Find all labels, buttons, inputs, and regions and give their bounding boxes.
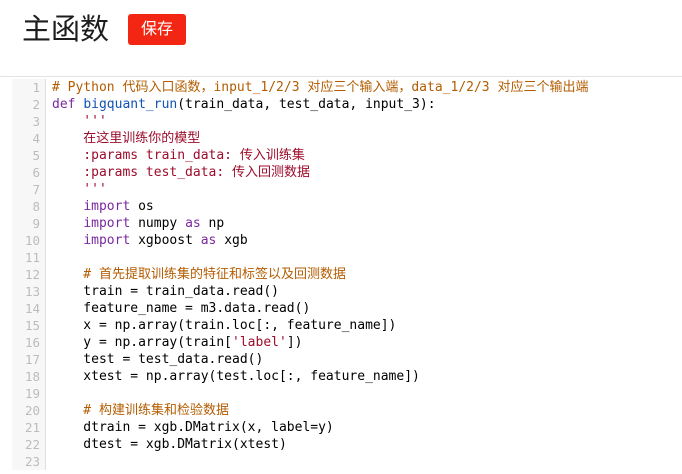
code-editor-body: 1# Python 代码入口函数，input_1/2/3 对应三个输入端，dat… bbox=[0, 77, 682, 470]
code-token-kw: import bbox=[83, 199, 130, 214]
line-number: 9 bbox=[12, 215, 46, 232]
code-token-doc: :params test_data: 传入回测数据 bbox=[52, 165, 310, 180]
line-number: 8 bbox=[12, 198, 46, 215]
code-line: 21 dtrain = xgb.DMatrix(x, label=y) bbox=[12, 419, 682, 436]
header-title-group: 主函数 保存 bbox=[22, 12, 186, 46]
line-number: 17 bbox=[12, 351, 46, 368]
code-line: 18 xtest = np.array(test.loc[:, feature_… bbox=[12, 368, 682, 385]
code-token-str: 'label' bbox=[232, 335, 287, 350]
code-token-plain: y = np.array(train[ bbox=[52, 335, 232, 350]
line-number: 13 bbox=[12, 283, 46, 300]
code-line-text[interactable]: y = np.array(train['label']) bbox=[46, 334, 682, 351]
code-line: 12 # 首先提取训练集的特征和标签以及回测数据 bbox=[12, 266, 682, 283]
code-token-kw: import bbox=[83, 233, 130, 248]
line-number: 1 bbox=[12, 79, 46, 96]
code-line-text[interactable] bbox=[46, 385, 682, 402]
code-line: 17 test = test_data.read() bbox=[12, 351, 682, 368]
code-line-text[interactable]: ''' bbox=[46, 181, 682, 198]
code-token-plain: xgboost bbox=[130, 233, 200, 248]
code-line-text[interactable] bbox=[46, 453, 682, 470]
code-line-text[interactable]: # 首先提取训练集的特征和标签以及回测数据 bbox=[46, 266, 682, 283]
code-line-text[interactable]: # Python 代码入口函数，input_1/2/3 对应三个输入端，data… bbox=[46, 79, 682, 96]
code-line-text[interactable]: import os bbox=[46, 198, 682, 215]
code-token-plain: os bbox=[130, 199, 153, 214]
code-line-text[interactable]: feature_name = m3.data.read() bbox=[46, 300, 682, 317]
code-line-text[interactable]: def bigquant_run(train_data, test_data, … bbox=[46, 96, 682, 113]
line-number: 11 bbox=[12, 249, 46, 266]
code-token-doc: :params train_data: 传入训练集 bbox=[52, 148, 305, 163]
code-line: 5 :params train_data: 传入训练集 bbox=[12, 147, 682, 164]
code-token-plain bbox=[52, 216, 83, 231]
line-number: 12 bbox=[12, 266, 46, 283]
code-token-plain: test = test_data.read() bbox=[52, 352, 263, 367]
code-line: 20 # 构建训练集和检验数据 bbox=[12, 402, 682, 419]
code-token-plain: xtest = np.array(test.loc[:, feature_nam… bbox=[52, 369, 420, 384]
code-line: 7 ''' bbox=[12, 181, 682, 198]
code-line: 4 在这里训练你的模型 bbox=[12, 130, 682, 147]
code-line: 6 :params test_data: 传入回测数据 bbox=[12, 164, 682, 181]
code-token-plain: dtrain = xgb.DMatrix(x, label=y) bbox=[52, 420, 334, 435]
code-line-text[interactable]: ''' bbox=[46, 113, 682, 130]
code-token-plain: dtest = xgb.DMatrix(xtest) bbox=[52, 437, 287, 452]
line-number: 15 bbox=[12, 317, 46, 334]
line-number: 14 bbox=[12, 300, 46, 317]
code-token-doc: ''' bbox=[52, 182, 107, 197]
line-number: 3 bbox=[12, 113, 46, 130]
code-line-text[interactable]: train = train_data.read() bbox=[46, 283, 682, 300]
code-line-text[interactable]: import numpy as np bbox=[46, 215, 682, 232]
code-line: 11 bbox=[12, 249, 682, 266]
code-line: 10 import xgboost as xgb bbox=[12, 232, 682, 249]
code-line-text[interactable]: dtrain = xgb.DMatrix(x, label=y) bbox=[46, 419, 682, 436]
code-token-plain: x = np.array(train.loc[:, feature_name]) bbox=[52, 318, 396, 333]
code-token-cmt: # Python 代码入口函数，input_1/2/3 对应三个输入端，data… bbox=[52, 80, 588, 95]
line-number: 7 bbox=[12, 181, 46, 198]
line-number: 10 bbox=[12, 232, 46, 249]
code-line: 2def bigquant_run(train_data, test_data,… bbox=[12, 96, 682, 113]
line-number: 22 bbox=[12, 436, 46, 453]
code-line-text[interactable]: # 构建训练集和检验数据 bbox=[46, 402, 682, 419]
code-token-kw: def bbox=[52, 97, 83, 112]
code-token-plain: ]) bbox=[287, 335, 303, 350]
code-line: 3 ''' bbox=[12, 113, 682, 130]
line-number: 2 bbox=[12, 96, 46, 113]
code-token-kw: as bbox=[201, 233, 217, 248]
code-line-text[interactable]: :params train_data: 传入训练集 bbox=[46, 147, 682, 164]
code-token-cmt: # 构建训练集和检验数据 bbox=[52, 403, 229, 418]
code-line-text[interactable]: test = test_data.read() bbox=[46, 351, 682, 368]
code-line-text[interactable]: 在这里训练你的模型 bbox=[46, 130, 682, 147]
page-header: 主函数 保存 bbox=[0, 0, 682, 77]
line-number: 19 bbox=[12, 385, 46, 402]
code-token-plain: numpy bbox=[130, 216, 185, 231]
code-line: 9 import numpy as np bbox=[12, 215, 682, 232]
code-line: 13 train = train_data.read() bbox=[12, 283, 682, 300]
code-token-cmt: # 首先提取训练集的特征和标签以及回测数据 bbox=[52, 267, 346, 282]
code-line: 22 dtest = xgb.DMatrix(xtest) bbox=[12, 436, 682, 453]
code-token-kw: import bbox=[83, 216, 130, 231]
code-token-kw: as bbox=[185, 216, 201, 231]
line-number: 4 bbox=[12, 130, 46, 147]
code-line: 8 import os bbox=[12, 198, 682, 215]
code-line-text[interactable]: x = np.array(train.loc[:, feature_name]) bbox=[46, 317, 682, 334]
code-token-doc: ''' bbox=[52, 114, 107, 129]
line-number: 21 bbox=[12, 419, 46, 436]
code-line: 23 bbox=[12, 453, 682, 470]
line-number: 6 bbox=[12, 164, 46, 181]
code-line-text[interactable]: xtest = np.array(test.loc[:, feature_nam… bbox=[46, 368, 682, 385]
code-editor[interactable]: 1# Python 代码入口函数，input_1/2/3 对应三个输入端，dat… bbox=[0, 77, 682, 474]
code-line-text[interactable] bbox=[46, 249, 682, 266]
code-token-doc: 在这里训练你的模型 bbox=[52, 131, 200, 146]
line-number: 16 bbox=[12, 334, 46, 351]
line-number: 18 bbox=[12, 368, 46, 385]
code-line-text[interactable]: import xgboost as xgb bbox=[46, 232, 682, 249]
page-title: 主函数 bbox=[22, 12, 109, 46]
save-button[interactable]: 保存 bbox=[128, 14, 186, 45]
code-token-plain bbox=[52, 233, 83, 248]
line-number: 20 bbox=[12, 402, 46, 419]
code-lines: 1# Python 代码入口函数，input_1/2/3 对应三个输入端，dat… bbox=[12, 79, 682, 470]
code-line: 1# Python 代码入口函数，input_1/2/3 对应三个输入端，dat… bbox=[12, 79, 682, 96]
code-line: 14 feature_name = m3.data.read() bbox=[12, 300, 682, 317]
code-lines-table: 1# Python 代码入口函数，input_1/2/3 对应三个输入端，dat… bbox=[12, 79, 682, 470]
code-token-plain: train = train_data.read() bbox=[52, 284, 279, 299]
code-line: 15 x = np.array(train.loc[:, feature_nam… bbox=[12, 317, 682, 334]
line-number: 5 bbox=[12, 147, 46, 164]
code-token-plain: np bbox=[201, 216, 224, 231]
code-token-plain bbox=[52, 199, 83, 214]
code-token-plain: feature_name = m3.data.read() bbox=[52, 301, 310, 316]
code-line-text[interactable]: dtest = xgb.DMatrix(xtest) bbox=[46, 436, 682, 453]
code-token-plain: (train_data, test_data, input_3): bbox=[177, 97, 435, 112]
code-line-text[interactable]: :params test_data: 传入回测数据 bbox=[46, 164, 682, 181]
line-number: 23 bbox=[12, 453, 46, 470]
code-line: 19 bbox=[12, 385, 682, 402]
code-line: 16 y = np.array(train['label']) bbox=[12, 334, 682, 351]
code-token-plain: xgb bbox=[216, 233, 247, 248]
code-token-fn: bigquant_run bbox=[83, 97, 177, 112]
